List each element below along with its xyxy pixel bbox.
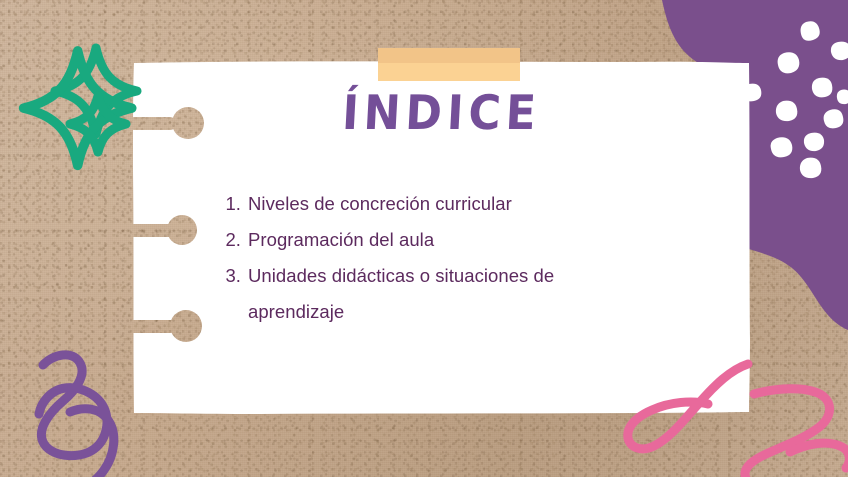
white-dot [800,158,821,178]
white-dot-group [688,21,848,178]
white-dot [804,133,824,151]
white-dot [743,84,761,102]
pink-zigzag-part1-icon [628,364,748,449]
white-dot [688,112,707,129]
white-dot [711,84,728,101]
white-dot [831,42,848,60]
white-dot [776,101,797,121]
sparkle-group [24,48,137,165]
white-dot [837,90,848,105]
pink-zigzag-part3-icon [790,443,848,468]
purple-loop-squiggle-icon [39,355,107,456]
white-dot [812,78,832,98]
white-dot [824,109,844,128]
white-dot [771,137,793,157]
sparkle-large-icon [24,51,132,165]
pink-zigzag-part2-icon [745,389,830,477]
purple-loop-tail-icon [70,409,114,477]
white-dot [778,52,800,73]
white-dot [801,21,820,41]
foreground-decorations [0,0,848,477]
slide-canvas: ÍNDICE 1. Niveles de concreción curricul… [0,0,848,477]
